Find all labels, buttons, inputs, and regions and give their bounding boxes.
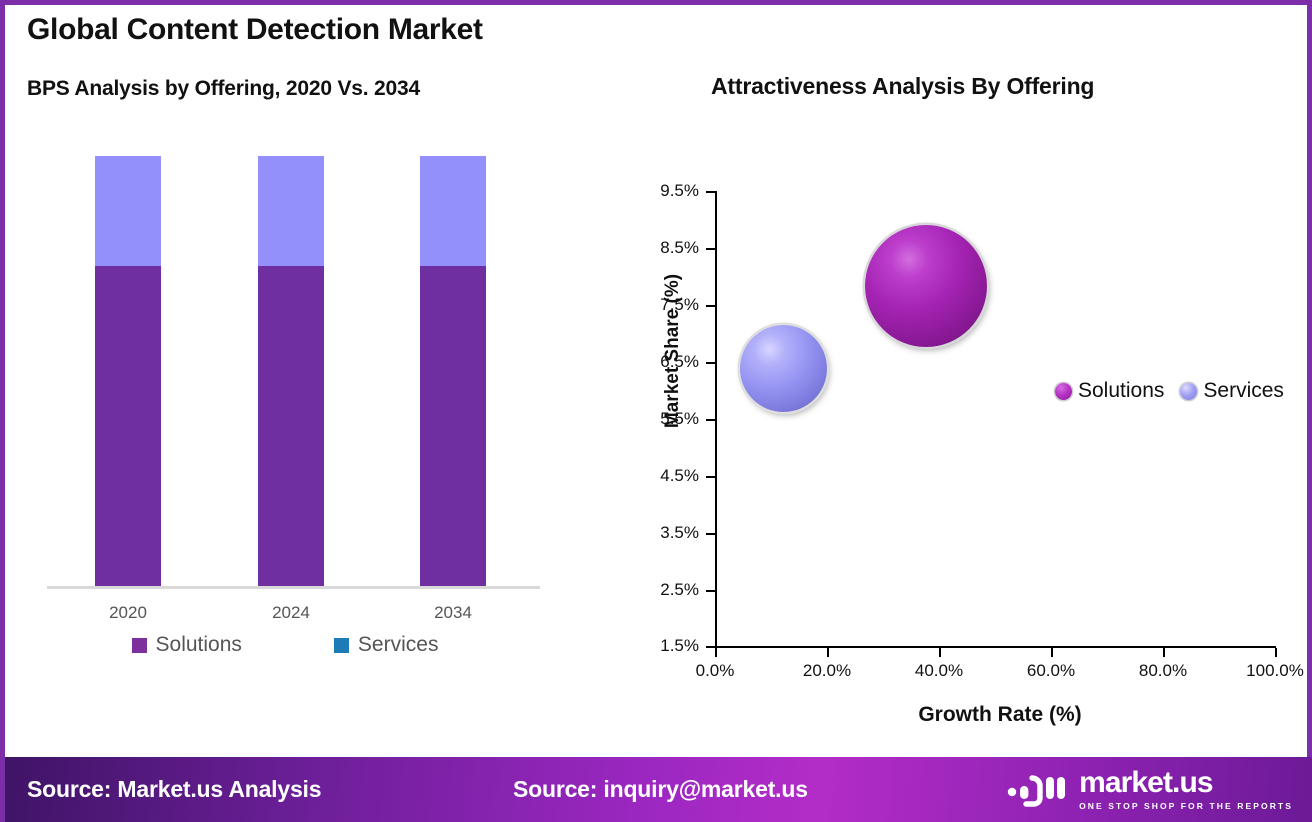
page-title: Global Content Detection Market (27, 13, 483, 47)
legend-item-services[interactable]: Services (1180, 379, 1284, 403)
bar-xtick-2020: 2020 (68, 603, 188, 623)
y-tick (706, 248, 715, 250)
x-tick-label-40: 40.0% (894, 661, 984, 681)
attractiveness-bubble-chart: 9.5% 8.5% 7.5% 6.5% 5.5% 4.5% 3.5% 2.5% … (625, 115, 1312, 755)
y-tick-label-9-5: 9.5% (637, 181, 699, 201)
logo-name: market.us (1079, 768, 1293, 798)
chart-page: Global Content Detection Market BPS Anal… (0, 0, 1312, 822)
x-axis-title: Growth Rate (%) (765, 703, 1235, 727)
bubble-chart-title: Attractiveness Analysis By Offering (711, 73, 1094, 100)
bar-xtick-2034: 2034 (393, 603, 513, 623)
bar-baseline (47, 586, 540, 589)
bar-segment-solutions (95, 266, 161, 587)
x-tick (1163, 648, 1165, 657)
y-tick (706, 590, 715, 592)
footer-source-analysis: Source: Market.us Analysis (27, 776, 321, 803)
legend-label-solutions: Solutions (1078, 379, 1164, 403)
y-tick (706, 362, 715, 364)
y-tick (706, 646, 715, 648)
bar-segment-solutions (420, 266, 486, 587)
y-axis-line (715, 191, 717, 647)
bar-segment-services (420, 156, 486, 266)
x-tick (1051, 648, 1053, 657)
bubble-services[interactable] (740, 325, 827, 412)
bar-plot-area (47, 155, 540, 587)
logo-text-block: market.us ONE STOP SHOP FOR THE REPORTS (1079, 768, 1293, 811)
x-tick-label-60: 60.0% (1006, 661, 1096, 681)
bar-segment-services (95, 156, 161, 266)
bar-column-2034 (420, 156, 486, 587)
bar-xtick-2024: 2024 (231, 603, 351, 623)
x-tick (939, 648, 941, 657)
x-tick (827, 648, 829, 657)
x-tick-label-20: 20.0% (782, 661, 872, 681)
footer-source-email: Source: inquiry@market.us (513, 776, 808, 803)
legend-dot-solutions-icon (1055, 383, 1072, 400)
legend-label-services: Services (1203, 379, 1284, 403)
legend-swatch-solutions-icon (132, 638, 147, 653)
x-axis-line (715, 646, 1276, 648)
bubble-chart-legend: Solutions Services (1055, 379, 1284, 403)
y-tick-label-3-5: 3.5% (637, 523, 699, 543)
logo-tagline: ONE STOP SHOP FOR THE REPORTS (1079, 802, 1293, 811)
bar-column-2020 (95, 156, 161, 587)
y-tick (706, 476, 715, 478)
y-tick-label-1-5: 1.5% (637, 636, 699, 656)
bps-bar-chart: 2020 2024 2034 Solutions Services (5, 155, 565, 665)
y-tick (706, 305, 715, 307)
x-tick-label-0: 0.0% (670, 661, 760, 681)
legend-dot-services-icon (1180, 383, 1197, 400)
y-tick (706, 533, 715, 535)
legend-label-services: Services (358, 633, 439, 657)
legend-item-solutions[interactable]: Solutions (132, 633, 242, 657)
legend-item-services[interactable]: Services (334, 633, 439, 657)
bubble-solutions[interactable] (865, 225, 987, 347)
legend-label-solutions: Solutions (156, 633, 242, 657)
y-axis-title: Market Share (%) (662, 221, 684, 481)
bar-chart-legend: Solutions Services (5, 633, 565, 657)
x-tick (715, 648, 717, 657)
legend-swatch-services-icon (334, 638, 349, 653)
legend-item-solutions[interactable]: Solutions (1055, 379, 1164, 403)
y-tick (706, 419, 715, 421)
bar-segment-services (258, 156, 324, 266)
bar-segment-solutions (258, 266, 324, 587)
footer-bar: Source: Market.us Analysis Source: inqui… (5, 757, 1312, 822)
x-tick-label-100: 100.0% (1230, 661, 1312, 681)
market-us-logo[interactable]: market.us ONE STOP SHOP FOR THE REPORTS (1006, 768, 1293, 811)
x-tick-label-80: 80.0% (1118, 661, 1208, 681)
y-tick-label-2-5: 2.5% (637, 580, 699, 600)
bar-chart-title: BPS Analysis by Offering, 2020 Vs. 2034 (27, 77, 420, 101)
bar-column-2024 (258, 156, 324, 587)
logo-bars-icon (1006, 770, 1068, 810)
x-tick (1275, 648, 1277, 657)
y-tick (706, 191, 715, 193)
